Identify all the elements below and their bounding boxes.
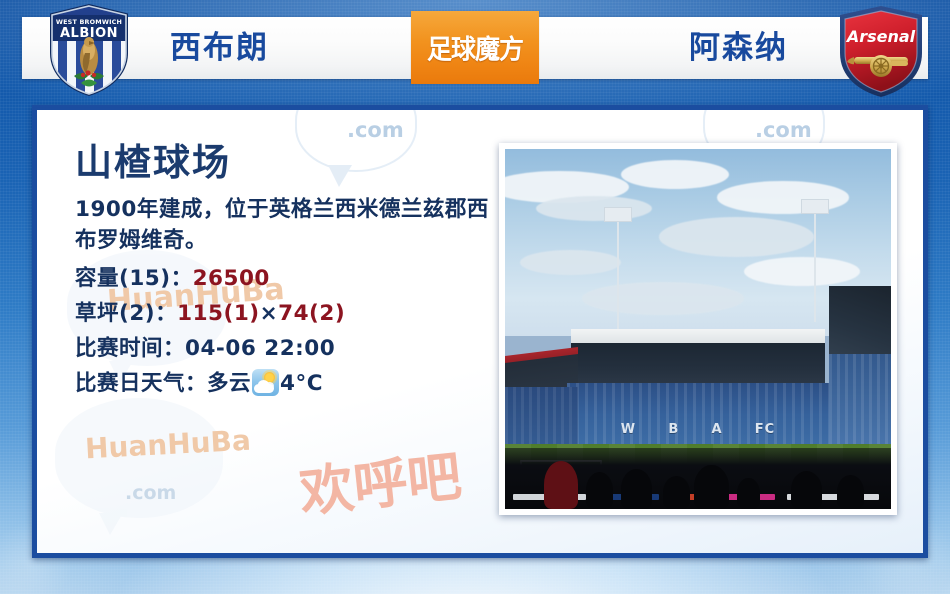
capacity-label: 容量(15)：	[75, 266, 193, 291]
capacity-value: 26500	[193, 266, 270, 291]
pitch-size-row: 草坪(2)：115(1)×74(2)	[75, 297, 495, 332]
home-team-name: 西布朗	[170, 17, 269, 79]
match-weather-value: 多云	[207, 371, 251, 396]
site-brand-label: 足球魔方	[427, 28, 523, 66]
floodlight-left	[605, 207, 631, 344]
seats-right	[829, 354, 891, 451]
site-brand-logo[interactable]: 足球魔方	[411, 11, 539, 84]
stadium-info-card: .com .com HuanHuBa HuanHuBa 欢呼吧 HuanHuBa…	[32, 105, 928, 558]
stand-right	[829, 286, 891, 358]
match-header-bar: 西布朗 阿森纳 足球魔方	[22, 17, 928, 79]
arsenal-crest-icon: Arsenal	[834, 4, 928, 98]
away-team-name: 阿森纳	[689, 17, 788, 79]
stadium-info-text: 山楂球场 1900年建成，位于英格兰西米德兰兹郡西布罗姆维奇。 容量(15)：2…	[75, 144, 495, 402]
pitch-size-separator: ×	[260, 301, 279, 326]
floodlight-right	[802, 199, 828, 321]
svg-text:Arsenal: Arsenal	[845, 27, 916, 46]
seat-letter: FC	[755, 422, 775, 437]
svg-text:ALBION: ALBION	[60, 26, 118, 41]
match-time-value: 04-06 22:00	[185, 336, 335, 361]
pitch-length-value: 115(1)	[177, 301, 260, 326]
watermark-text: .com	[347, 118, 404, 142]
capacity-row: 容量(15)：26500	[75, 262, 495, 297]
seat-letter: B	[668, 422, 679, 437]
stand-main-roof	[571, 329, 826, 343]
partly-cloudy-icon	[252, 369, 279, 396]
match-time-row: 比赛时间：04-06 22:00	[75, 332, 495, 367]
match-info-graphic: 西布朗 阿森纳 足球魔方	[0, 0, 950, 594]
pitch-width-value: 74(2)	[278, 301, 345, 326]
match-temperature-value: 4°C	[280, 371, 323, 396]
seat-lettering: W B A FC	[621, 415, 775, 444]
stadium-photo: W B A FC	[505, 149, 891, 509]
match-weather-row: 比赛日天气：多云4°C	[75, 367, 495, 402]
match-time-label: 比赛时间：	[75, 336, 185, 361]
watermark-text: .com	[125, 482, 176, 504]
pitch-size-label: 草坪(2)：	[75, 301, 177, 326]
watermark-text: HuanHuBa	[84, 424, 251, 466]
foreground-crowd	[505, 448, 891, 509]
seats-left	[505, 387, 578, 452]
match-weather-label: 比赛日天气：	[75, 371, 207, 396]
svg-text:WEST BROMWICH: WEST BROMWICH	[56, 18, 122, 26]
stand-main	[571, 343, 826, 383]
watermark-text: 欢呼吧	[295, 432, 464, 528]
stadium-photo-frame: W B A FC	[499, 143, 897, 515]
stadium-title: 山楂球场	[75, 144, 495, 183]
west-bromwich-albion-crest-icon: WEST BROMWICH ALBION	[44, 3, 134, 97]
seat-letter: A	[711, 422, 722, 437]
seat-letter: W	[621, 422, 636, 437]
watermark-text: .com	[755, 118, 812, 142]
stadium-description: 1900年建成，位于英格兰西米德兰兹郡西布罗姆维奇。	[75, 194, 495, 256]
